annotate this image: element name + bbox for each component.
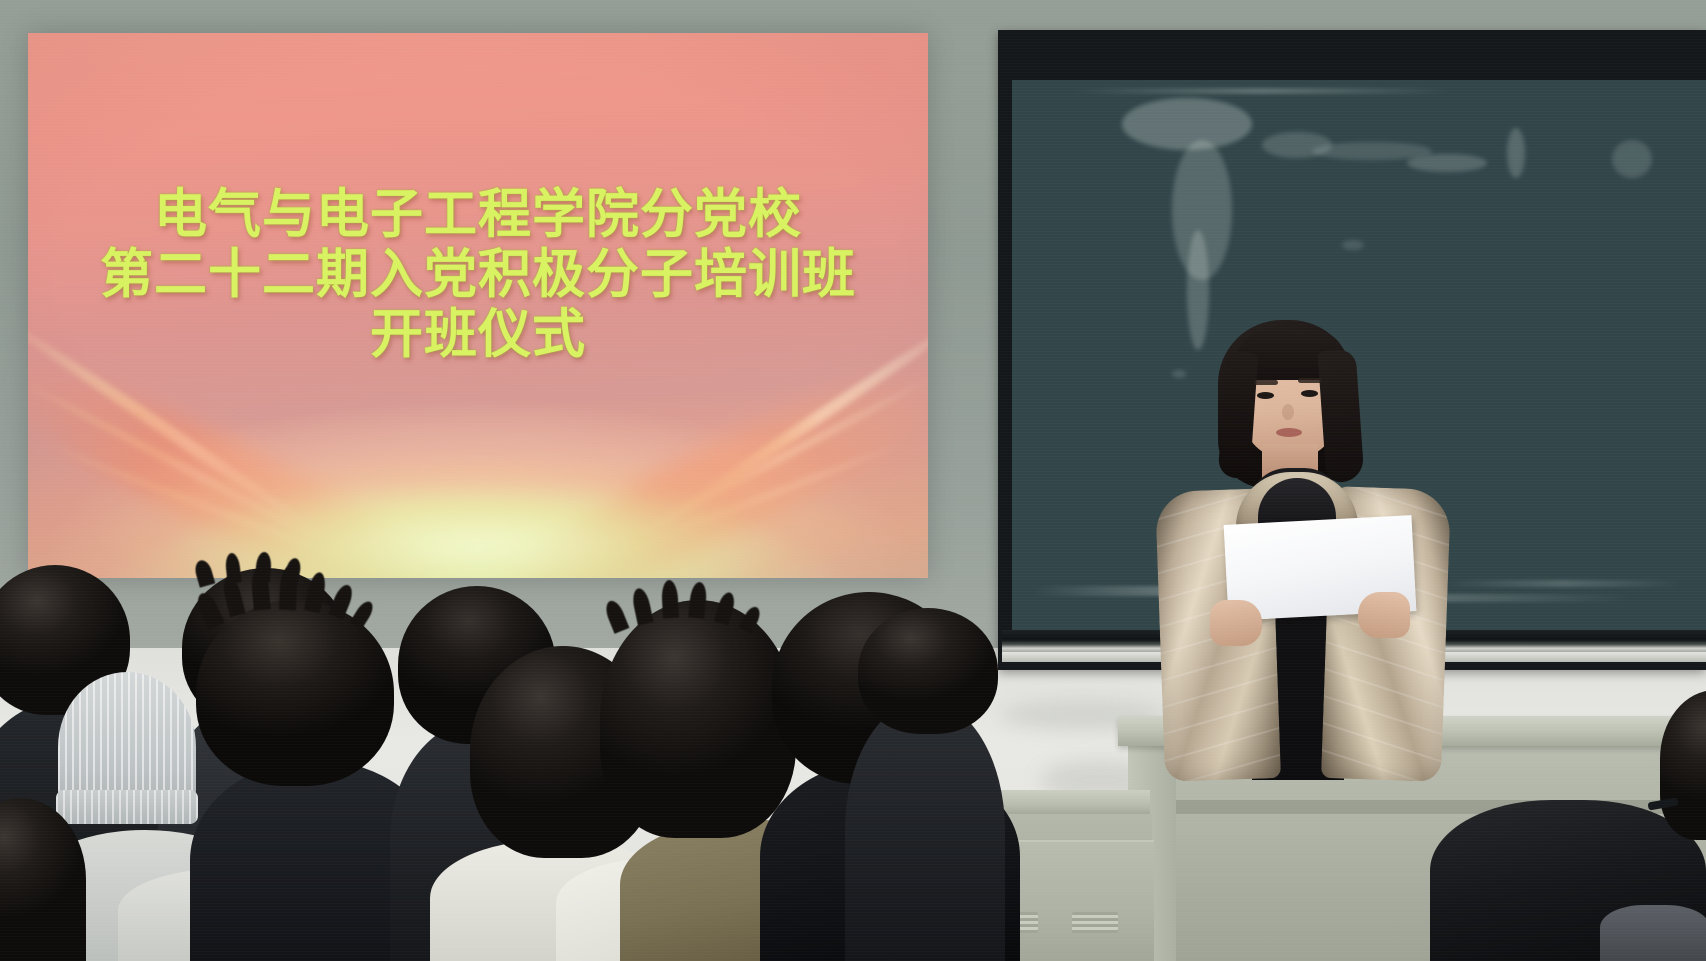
speaker-eye-left	[1257, 392, 1274, 399]
projection-screen: 电气与电子工程学院分党校 第二十二期入党积极分子培训班 开班仪式	[28, 33, 928, 578]
speaker-hand-left	[1210, 600, 1262, 646]
speaker-brow-left	[1254, 380, 1278, 385]
cabinet-vent-right	[1072, 912, 1118, 933]
speaker-hand-right	[1358, 592, 1410, 638]
speaker-nose	[1282, 404, 1294, 420]
slide-title: 电气与电子工程学院分党校 第二十二期入党积极分子培训班 开班仪式	[28, 185, 928, 365]
slide-title-line-1: 电气与电子工程学院分党校	[28, 185, 928, 245]
speaker-eye-right	[1301, 390, 1318, 397]
slide-title-line-2: 第二十二期入党积极分子培训班	[28, 245, 928, 305]
speaker-mouth	[1276, 428, 1302, 437]
speaker-hair-right	[1317, 349, 1364, 483]
slide-title-line-3: 开班仪式	[28, 305, 928, 365]
speaker-presenter	[1140, 320, 1460, 780]
speaker-brow-right	[1298, 378, 1322, 383]
lecture-room-photo: 电气与电子工程学院分党校 第二十二期入党积极分子培训班 开班仪式	[0, 0, 1706, 961]
